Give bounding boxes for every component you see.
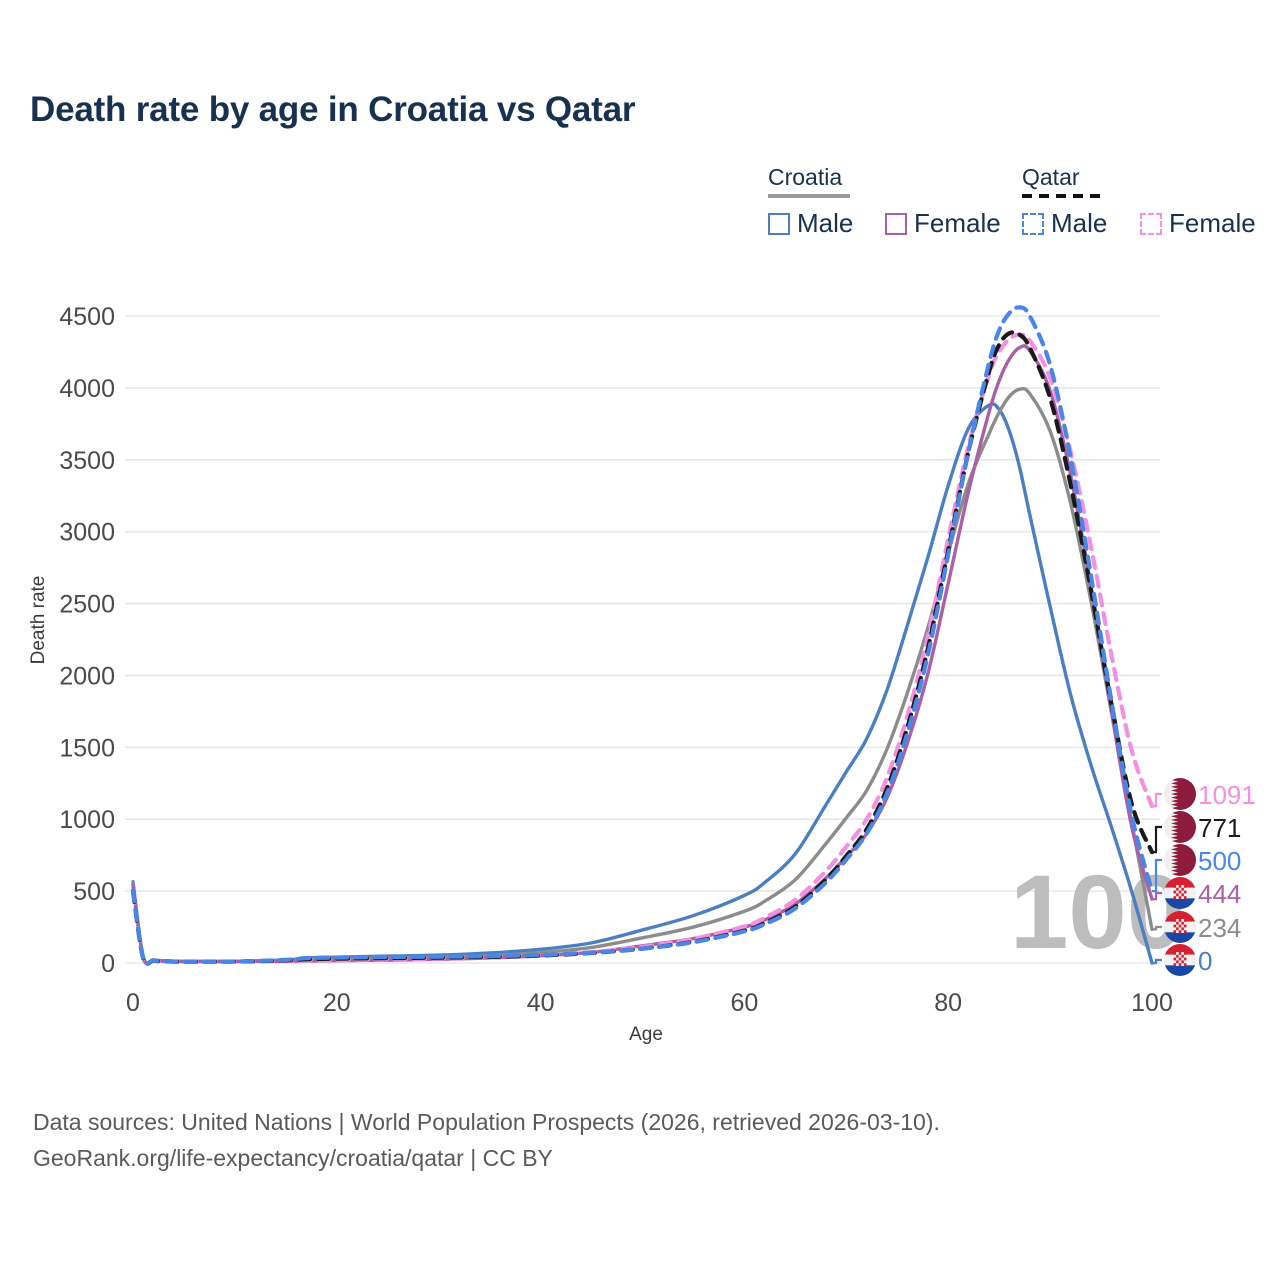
end-label-value: 500 bbox=[1198, 846, 1241, 876]
x-axis-title: Age bbox=[629, 1024, 663, 1045]
y-axis-tick-labels: 050010001500200025003000350040004500 bbox=[59, 303, 115, 978]
series-line-qatar-male bbox=[133, 307, 1152, 963]
x-tick-label: 80 bbox=[934, 989, 962, 1017]
end-label-value: 0 bbox=[1198, 946, 1212, 976]
qatar-flag-icon bbox=[1164, 811, 1196, 843]
series-line-croatia-female bbox=[133, 346, 1152, 964]
x-tick-label: 100 bbox=[1131, 989, 1173, 1017]
qatar-flag-icon bbox=[1164, 778, 1196, 810]
x-tick-label: 0 bbox=[126, 989, 140, 1017]
qatar-flag-icon bbox=[1164, 844, 1196, 876]
footer-line-1: Data sources: United Nations | World Pop… bbox=[33, 1105, 940, 1141]
leader-line bbox=[1152, 827, 1162, 852]
end-label-value: 771 bbox=[1198, 813, 1241, 843]
y-tick-label: 2500 bbox=[59, 591, 115, 619]
croatia-flag-icon bbox=[1164, 911, 1196, 943]
end-label-value: 1091 bbox=[1198, 780, 1256, 810]
y-tick-label: 2000 bbox=[59, 662, 115, 690]
x-tick-label: 20 bbox=[323, 989, 351, 1017]
series-lines bbox=[133, 307, 1152, 964]
y-tick-label: 1500 bbox=[59, 734, 115, 762]
end-label-value: 444 bbox=[1198, 879, 1241, 909]
gridlines bbox=[125, 316, 1160, 963]
y-tick-label: 500 bbox=[73, 878, 115, 906]
chart-plot-area: 050010001500200025003000350040004500 020… bbox=[0, 0, 1280, 1060]
y-tick-label: 1000 bbox=[59, 806, 115, 834]
end-label-value: 234 bbox=[1198, 913, 1241, 943]
line-chart-svg: 050010001500200025003000350040004500 020… bbox=[0, 0, 1280, 1060]
series-line-qatar bbox=[133, 332, 1152, 964]
y-tick-label: 4000 bbox=[59, 375, 115, 403]
series-line-croatia-male bbox=[133, 404, 1152, 963]
footer: Data sources: United Nations | World Pop… bbox=[33, 1105, 940, 1176]
footer-line-2: GeoRank.org/life-expectancy/croatia/qata… bbox=[33, 1141, 940, 1177]
y-tick-label: 3000 bbox=[59, 519, 115, 547]
x-tick-label: 40 bbox=[527, 989, 555, 1017]
croatia-flag-icon bbox=[1164, 944, 1196, 976]
x-axis-tick-labels: 020406080100 bbox=[126, 989, 1173, 1017]
y-axis-title: Death rate bbox=[28, 576, 49, 665]
age-watermark: 100 bbox=[1010, 854, 1185, 971]
y-tick-label: 4500 bbox=[59, 303, 115, 331]
x-tick-label: 60 bbox=[730, 989, 758, 1017]
croatia-flag-icon bbox=[1164, 877, 1196, 909]
y-tick-label: 3500 bbox=[59, 447, 115, 475]
series-line-qatar-female bbox=[133, 335, 1152, 964]
y-tick-label: 0 bbox=[101, 950, 115, 978]
